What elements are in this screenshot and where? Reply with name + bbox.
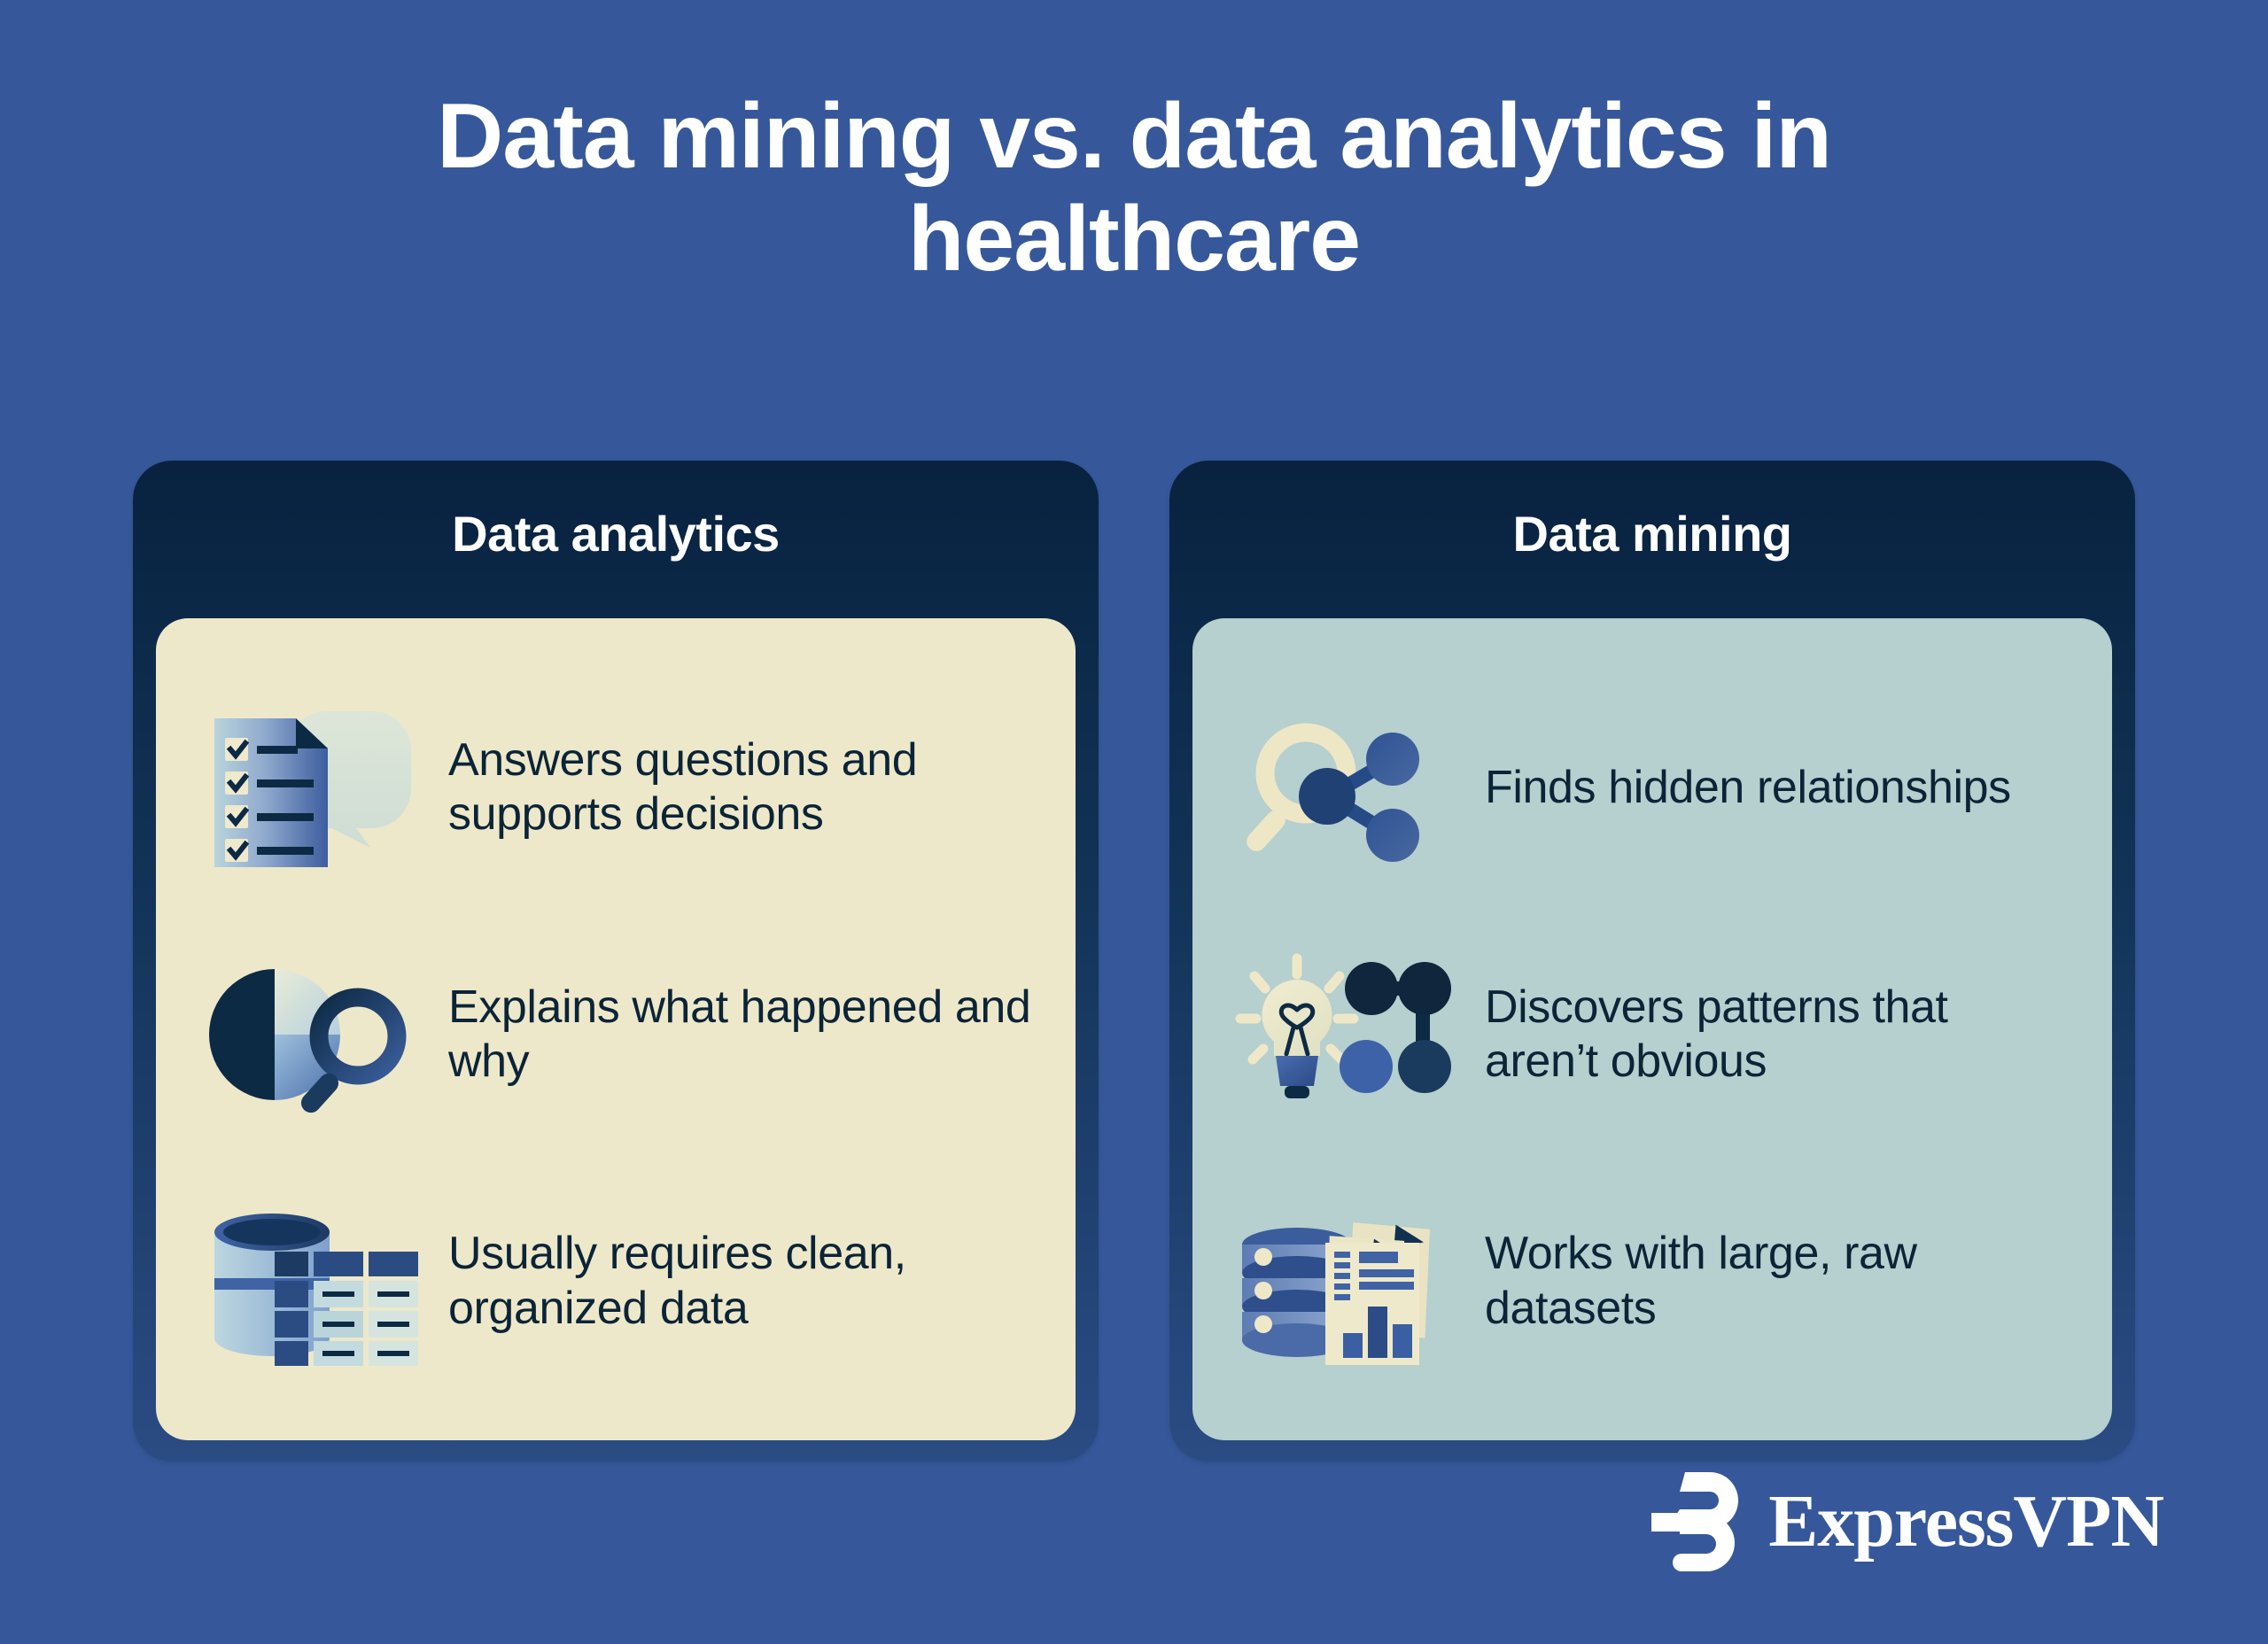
card-data-mining: Data mining [1169, 461, 2135, 1462]
card-title-data-analytics: Data analytics [133, 505, 1099, 562]
comparison-cards: Data analytics [133, 461, 2135, 1462]
expressvpn-e-mark-icon [1646, 1469, 1745, 1575]
server-stack-documents-icon [1233, 1189, 1455, 1375]
pie-chart-magnifier-icon [197, 942, 418, 1128]
expressvpn-logo: ExpressVPN [1646, 1469, 2163, 1575]
card-title-data-mining: Data mining [1169, 505, 2135, 562]
list-item-label: Works with large, raw datasets [1485, 1227, 2071, 1336]
magnifier-network-nodes-icon [1233, 694, 1455, 880]
list-item: Explains what happened and why [197, 942, 1035, 1128]
list-item: Usually requires clean, organized data [197, 1189, 1035, 1375]
list-item: Answers questions and supports decisions [197, 694, 1035, 880]
card-data-analytics: Data analytics [133, 461, 1099, 1462]
list-item: Finds hidden relationships [1233, 694, 2071, 880]
card-body-data-mining: Finds hidden relationships [1192, 618, 2112, 1440]
page-title: Data mining vs. data analytics in health… [0, 85, 2268, 291]
lightbulb-node-graph-icon [1233, 942, 1455, 1128]
list-item-label: Usually requires clean, organized data [448, 1227, 1035, 1336]
list-item-label: Finds hidden relationships [1485, 761, 2011, 815]
database-table-icon [197, 1189, 418, 1375]
checklist-document-speech-bubble-icon [197, 694, 418, 880]
list-item: Discovers patterns that aren’t obvious [1233, 942, 2071, 1128]
card-body-data-analytics: Answers questions and supports decisions [156, 618, 1076, 1440]
infographic-canvas: Data mining vs. data analytics in health… [0, 0, 2268, 1644]
list-item: Works with large, raw datasets [1233, 1189, 2071, 1375]
expressvpn-wordmark: ExpressVPN [1768, 1485, 2163, 1559]
list-item-label: Explains what happened and why [448, 981, 1035, 1090]
list-item-label: Answers questions and supports decisions [448, 733, 1035, 842]
list-item-label: Discovers patterns that aren’t obvious [1485, 981, 2071, 1090]
